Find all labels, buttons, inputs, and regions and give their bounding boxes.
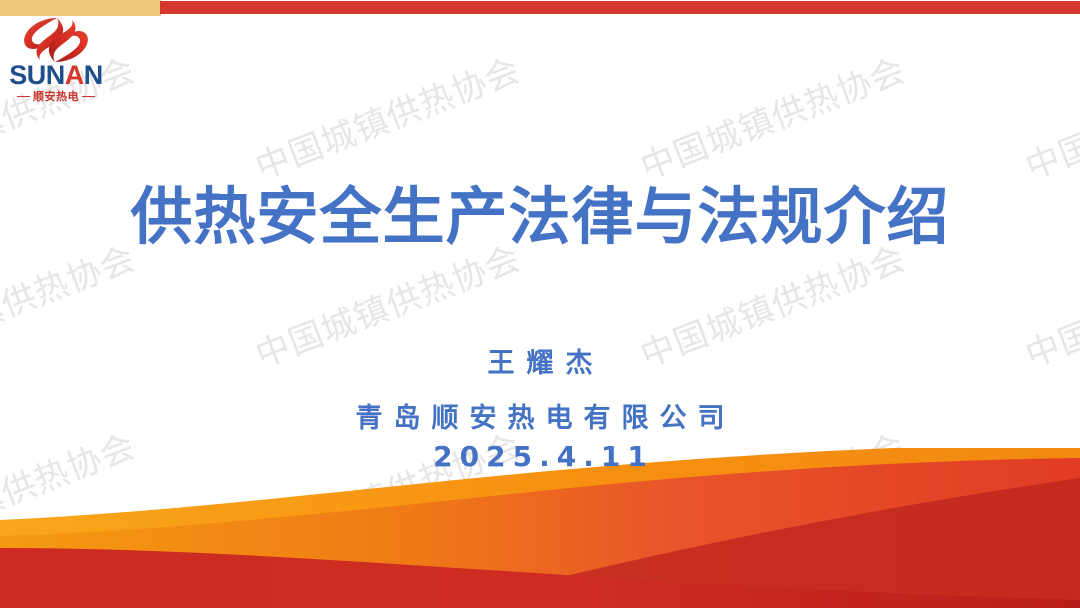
logo-subtitle: 顺安热电 — [33, 91, 79, 102]
logo-wordmark: SUNAN — [4, 62, 108, 89]
top-accent-bar-red — [160, 1, 1080, 14]
top-accent-bar-orange — [0, 0, 161, 16]
slide-title: 供热安全生产法律与法规介绍 — [0, 166, 1080, 256]
logo-wordmark-part2: N — [84, 60, 103, 90]
presenter-company: 青岛顺安热电有限公司 — [0, 403, 1080, 434]
presenter-block: 王耀杰 青岛顺安热电有限公司 2025.4.11 — [0, 348, 1080, 474]
presenter-date: 2025.4.11 — [0, 440, 1080, 474]
logo-rule-left — [17, 96, 30, 98]
presentation-slide: SUNAN 顺安热电 供热安全生产法律与法规介绍 王耀杰 青岛顺安热电有限公司 … — [0, 0, 1080, 608]
logo-subtitle-row: 顺安热电 — [4, 91, 108, 102]
logo-rule-right — [82, 96, 95, 98]
logo-wordmark-accent: A — [65, 60, 84, 90]
logo-wordmark-part1: SUN — [9, 60, 65, 90]
company-logo: SUNAN 顺安热电 — [4, 16, 108, 110]
presenter-name: 王耀杰 — [0, 348, 1080, 379]
